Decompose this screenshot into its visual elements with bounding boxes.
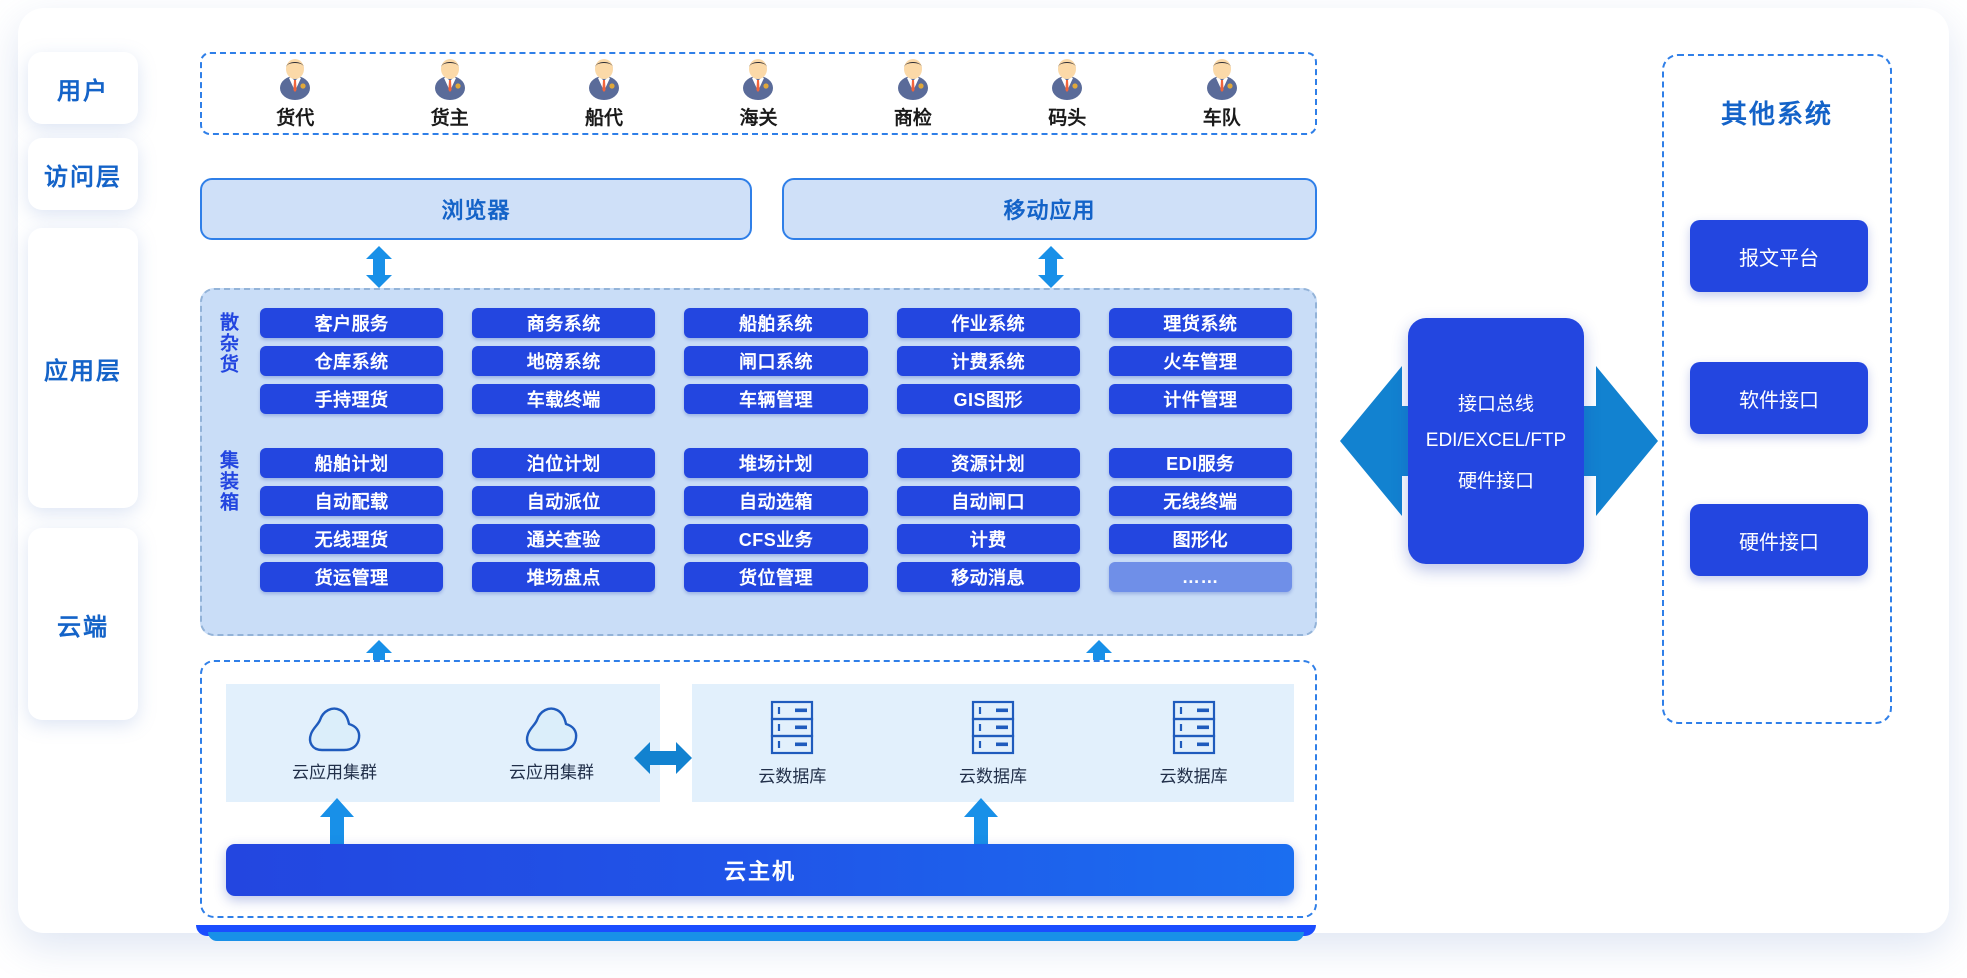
cloud-database-item[interactable]: 云数据库 — [722, 700, 862, 787]
app-module-chip[interactable]: 自动选箱 — [684, 486, 867, 516]
cloud-layer-panel: 云应用集群 云应用集群 云数据库 云 — [200, 660, 1317, 918]
app-grid-container: 船舶计划泊位计划堆场计划资源计划EDI服务自动配载自动派位自动选箱自动闸口无线终… — [260, 448, 1292, 592]
cloud-database-label: 云数据库 — [758, 762, 826, 787]
user-item[interactable]: 商检 — [858, 57, 968, 130]
app-module-chip[interactable]: 船舶系统 — [684, 308, 867, 338]
user-item[interactable]: 海关 — [703, 57, 813, 130]
users-panel: 货代 货主 船代 海关 商检 码头 — [200, 52, 1317, 135]
person-avatar-icon — [891, 57, 935, 101]
app-module-chip[interactable]: 无线终端 — [1109, 486, 1292, 516]
app-module-chip[interactable]: 无线理货 — [260, 524, 443, 554]
layer-label-application: 应用层 — [28, 228, 138, 508]
person-avatar-icon — [582, 57, 626, 101]
app-module-chip[interactable]: 计费系统 — [897, 346, 1080, 376]
access-item-browser-label: 浏览器 — [441, 193, 510, 225]
other-system-item-2-label: 硬件接口 — [1739, 526, 1819, 555]
user-item-label: 船代 — [585, 103, 623, 130]
app-module-chip[interactable]: 通关查验 — [472, 524, 655, 554]
interface-bus-group: 接口总线 EDI/EXCEL/FTP 硬件接口 — [1340, 318, 1658, 564]
layer-label-user: 用户 — [28, 52, 138, 124]
database-server-icon — [1171, 700, 1217, 756]
access-item-mobile-app[interactable]: 移动应用 — [782, 178, 1317, 240]
app-module-chip[interactable]: 货运管理 — [260, 562, 443, 592]
app-module-chip[interactable]: 车载终端 — [472, 384, 655, 414]
user-item-label: 货主 — [431, 103, 469, 130]
interface-bus-line-3: 硬件接口 — [1458, 466, 1534, 493]
app-module-chip[interactable]: CFS业务 — [684, 524, 867, 554]
cloud-database-label: 云数据库 — [959, 762, 1027, 787]
arrow-up-icon-right — [964, 798, 998, 848]
cloud-database-item[interactable]: 云数据库 — [923, 700, 1063, 787]
access-item-mobile-app-label: 移动应用 — [1003, 193, 1095, 225]
app-module-chip[interactable]: 商务系统 — [472, 308, 655, 338]
app-grid-bulk: 客户服务商务系统船舶系统作业系统理货系统仓库系统地磅系统闸口系统计费系统火车管理… — [260, 308, 1292, 414]
other-system-item-0-label: 报文平台 — [1739, 242, 1819, 271]
app-module-chip[interactable]: 堆场计划 — [684, 448, 867, 478]
user-item-label: 海关 — [739, 103, 777, 130]
app-module-chip[interactable]: 地磅系统 — [472, 346, 655, 376]
app-module-chip[interactable]: 移动消息 — [897, 562, 1080, 592]
app-module-chip[interactable]: 计费 — [897, 524, 1080, 554]
user-item-label: 车队 — [1203, 103, 1241, 130]
other-system-item-1[interactable]: 软件接口 — [1690, 362, 1868, 434]
layer-label-application-text: 应用层 — [44, 351, 122, 386]
user-item[interactable]: 货主 — [395, 57, 505, 130]
app-module-chip[interactable]: 火车管理 — [1109, 346, 1292, 376]
app-module-chip[interactable]: 仓库系统 — [260, 346, 443, 376]
other-system-item-0[interactable]: 报文平台 — [1690, 220, 1868, 292]
cloud-icon — [521, 704, 583, 752]
app-module-chip[interactable]: 堆场盘点 — [472, 562, 655, 592]
user-item[interactable]: 货代 — [240, 57, 350, 130]
user-item-label: 码头 — [1048, 103, 1086, 130]
user-item-label: 商检 — [894, 103, 932, 130]
app-module-chip[interactable]: 自动闸口 — [897, 486, 1080, 516]
cloud-app-cluster-item[interactable]: 云应用集群 — [265, 704, 405, 783]
arrow-up-icon-left — [320, 798, 354, 848]
interface-bus-line-2: EDI/EXCEL/FTP — [1426, 430, 1566, 452]
layer-label-cloud-text: 云端 — [57, 607, 109, 642]
app-module-chip[interactable]: 客户服务 — [260, 308, 443, 338]
other-system-item-1-label: 软件接口 — [1739, 384, 1819, 413]
app-module-chip[interactable]: 理货系统 — [1109, 308, 1292, 338]
cloud-database-band: 云数据库 云数据库 云数据库 — [692, 684, 1294, 802]
cloud-database-item[interactable]: 云数据库 — [1124, 700, 1264, 787]
app-module-chip[interactable]: 自动派位 — [472, 486, 655, 516]
user-item[interactable]: 车队 — [1167, 57, 1277, 130]
user-item[interactable]: 码头 — [1012, 57, 1122, 130]
layer-label-user-text: 用户 — [57, 71, 109, 106]
database-server-icon — [970, 700, 1016, 756]
other-system-item-2[interactable]: 硬件接口 — [1690, 504, 1868, 576]
app-module-chip[interactable]: 作业系统 — [897, 308, 1080, 338]
layer-label-access-text: 访问层 — [44, 157, 122, 192]
app-module-chip[interactable]: 车辆管理 — [684, 384, 867, 414]
person-avatar-icon — [1045, 57, 1089, 101]
app-module-chip[interactable]: 自动配载 — [260, 486, 443, 516]
app-module-chip[interactable]: 计件管理 — [1109, 384, 1292, 414]
person-avatar-icon — [273, 57, 317, 101]
app-module-chip[interactable]: EDI服务 — [1109, 448, 1292, 478]
app-module-chip[interactable]: 资源计划 — [897, 448, 1080, 478]
cloud-app-cluster-label: 云应用集群 — [509, 758, 594, 783]
access-item-browser[interactable]: 浏览器 — [200, 178, 752, 240]
cloud-host-bar[interactable]: 云主机 — [226, 844, 1294, 896]
app-module-chip[interactable]: 手持理货 — [260, 384, 443, 414]
cloud-icon — [304, 704, 366, 752]
database-server-icon — [769, 700, 815, 756]
app-group-tag-container: 集装箱 — [218, 450, 237, 513]
app-module-chip[interactable]: GIS图形 — [897, 384, 1080, 414]
app-module-chip[interactable]: 图形化 — [1109, 524, 1292, 554]
person-avatar-icon — [428, 57, 472, 101]
card-accent-bar-secondary — [208, 932, 1304, 941]
diagram-canvas: 用户 访问层 应用层 云端 货代 货主 船代 海关 — [0, 0, 1967, 978]
user-item[interactable]: 船代 — [549, 57, 659, 130]
person-avatar-icon — [736, 57, 780, 101]
arrow-up-down-icon-browser — [366, 246, 392, 288]
cloud-host-label: 云主机 — [724, 854, 796, 886]
app-group-tag-bulk: 散杂货 — [218, 312, 237, 375]
app-module-chip[interactable]: 闸口系统 — [684, 346, 867, 376]
app-module-chip[interactable]: 货位管理 — [684, 562, 867, 592]
arrow-left-right-icon — [634, 734, 692, 782]
other-systems-panel: 其他系统 报文平台 软件接口 硬件接口 — [1662, 54, 1892, 724]
app-module-chip[interactable]: 船舶计划 — [260, 448, 443, 478]
layer-label-access: 访问层 — [28, 138, 138, 210]
interface-bus-card[interactable]: 接口总线 EDI/EXCEL/FTP 硬件接口 — [1408, 318, 1584, 564]
application-layer-panel: 散杂货 集装箱 客户服务商务系统船舶系统作业系统理货系统仓库系统地磅系统闸口系统… — [200, 288, 1317, 636]
interface-bus-line-1: 接口总线 — [1458, 389, 1534, 416]
cloud-app-cluster-band: 云应用集群 云应用集群 — [226, 684, 660, 802]
cloud-app-cluster-label: 云应用集群 — [292, 758, 377, 783]
app-module-chip[interactable]: …… — [1109, 562, 1292, 592]
cloud-database-label: 云数据库 — [1160, 762, 1228, 787]
arrow-up-down-icon-mobile — [1038, 246, 1064, 288]
app-module-chip[interactable]: 泊位计划 — [472, 448, 655, 478]
cloud-app-cluster-item[interactable]: 云应用集群 — [482, 704, 622, 783]
other-systems-title: 其他系统 — [1664, 94, 1890, 131]
person-avatar-icon — [1200, 57, 1244, 101]
layer-label-cloud: 云端 — [28, 528, 138, 720]
user-item-label: 货代 — [276, 103, 314, 130]
